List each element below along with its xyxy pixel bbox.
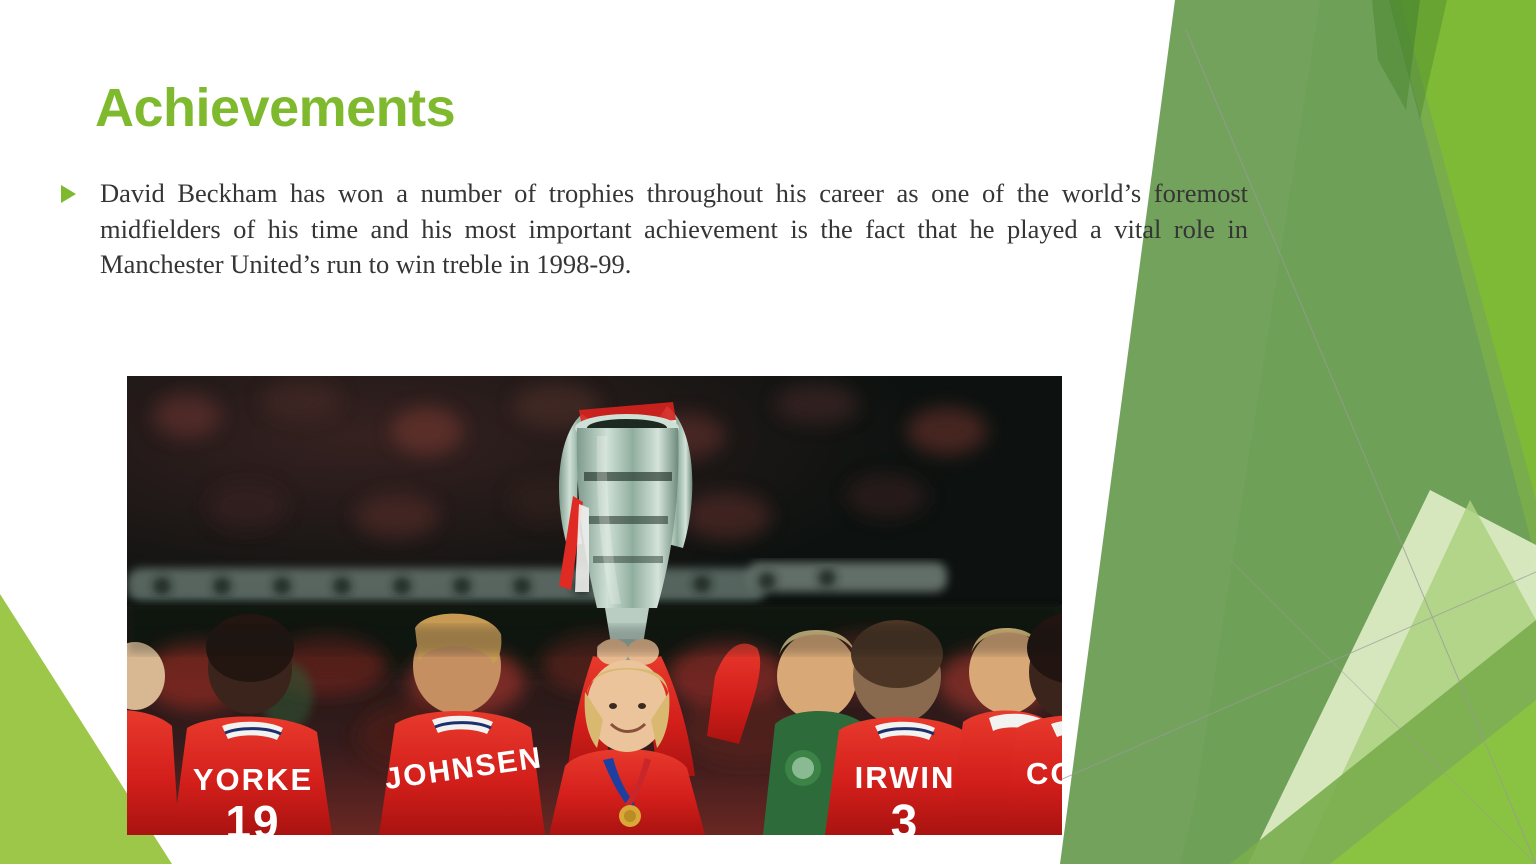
right-mid-green-wedge bbox=[1185, 0, 1536, 864]
slide-photo: YORKE 19 JOHNSEN bbox=[127, 376, 1062, 835]
presentation-slide: Achievements David Beckham has won a num… bbox=[0, 0, 1536, 864]
right-bright-green-wedge bbox=[1180, 0, 1536, 864]
list-item: David Beckham has won a number of trophi… bbox=[58, 176, 1248, 283]
bullet-marker bbox=[58, 176, 100, 203]
right-bright-green-bottom bbox=[1330, 700, 1536, 864]
right-light-green-wedge bbox=[1300, 500, 1536, 864]
right-shadow-wedge bbox=[1389, 0, 1447, 120]
hairline-diagonal bbox=[1186, 30, 1536, 864]
body-placeholder: David Beckham has won a number of trophi… bbox=[58, 176, 1248, 283]
hairline-diagonal-2 bbox=[1060, 572, 1536, 780]
right-mid-green-lower bbox=[1230, 620, 1536, 864]
hairline-diagonal-3 bbox=[1230, 560, 1536, 864]
svg-text:YORKE: YORKE bbox=[193, 762, 313, 797]
bullet-text: David Beckham has won a number of trophi… bbox=[100, 176, 1248, 283]
right-deep-green-wedge bbox=[1372, 0, 1420, 110]
triangle-bullet-icon bbox=[61, 185, 76, 203]
right-dark-green-wedge bbox=[1060, 0, 1536, 864]
svg-text:3: 3 bbox=[891, 796, 920, 835]
svg-text:IRWIN: IRWIN bbox=[855, 760, 956, 795]
svg-text:COLE: COLE bbox=[1026, 756, 1062, 791]
svg-text:19: 19 bbox=[225, 796, 280, 835]
photo-content: YORKE 19 JOHNSEN bbox=[127, 376, 1062, 835]
right-pale-green-wedge bbox=[1248, 490, 1536, 864]
page-title: Achievements bbox=[95, 80, 455, 137]
